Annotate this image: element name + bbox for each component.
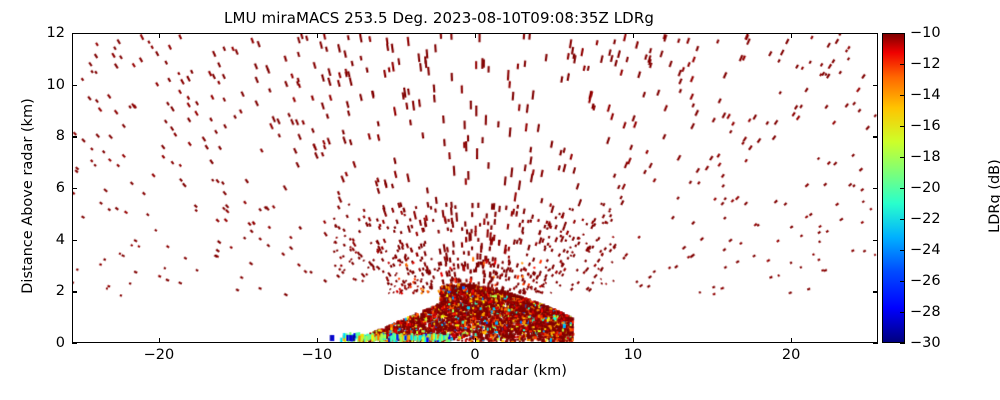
page-title: LMU miraMACS 253.5 Deg. 2023-08-10T09:08… (0, 9, 878, 27)
colorbar-tick-label: −14 (910, 87, 941, 103)
y-tick-label: 4 (56, 232, 65, 248)
x-tick-label: 20 (782, 347, 800, 363)
colorbar-tick-mark (900, 343, 905, 344)
colorbar-tick-label: −26 (910, 273, 941, 289)
y-tick-mark (873, 343, 878, 344)
y-tick-mark (72, 136, 77, 137)
x-tick-mark (317, 33, 318, 38)
plot-axes (72, 33, 878, 343)
y-tick-label: 8 (56, 128, 65, 144)
colorbar-tick-label: −12 (910, 56, 941, 72)
colorbar-tick-mark (900, 281, 905, 282)
colorbar-tick-label: −28 (910, 304, 941, 320)
colorbar-tick-label: −16 (910, 118, 941, 134)
x-tick-label: 10 (624, 347, 642, 363)
colorbar-tick-mark (900, 95, 905, 96)
y-tick-mark (72, 33, 77, 34)
colorbar-tick-mark (900, 157, 905, 158)
y-tick-mark (873, 240, 878, 241)
x-tick-mark (633, 338, 634, 343)
colorbar-tick-mark (900, 64, 905, 65)
y-axis-title: Distance Above radar (km) (20, 76, 36, 316)
colorbar-tick-mark (900, 312, 905, 313)
y-tick-mark (72, 85, 77, 86)
colorbar-tick-mark (900, 250, 905, 251)
x-tick-mark (791, 33, 792, 38)
y-tick-mark (72, 291, 77, 292)
x-tick-label: −20 (144, 347, 175, 363)
colorbar-tick-label: −10 (910, 25, 941, 41)
x-tick-mark (159, 338, 160, 343)
x-axis-title: Distance from radar (km) (72, 363, 878, 379)
y-tick-mark (873, 85, 878, 86)
y-tick-label: 2 (56, 283, 65, 299)
x-tick-mark (633, 33, 634, 38)
y-tick-label: 0 (56, 335, 65, 351)
y-tick-mark (873, 33, 878, 34)
y-tick-mark (72, 343, 77, 344)
radar-rhi-figure: LMU miraMACS 253.5 Deg. 2023-08-10T09:08… (0, 0, 1000, 400)
y-tick-mark (873, 188, 878, 189)
y-tick-mark (72, 188, 77, 189)
y-tick-label: 12 (47, 25, 65, 41)
colorbar-title: LDRg (dB) (987, 101, 1000, 291)
colorbar-tick-mark (900, 33, 905, 34)
colorbar-tick-mark (900, 219, 905, 220)
colorbar-tick-label: −24 (910, 242, 941, 258)
colorbar-tick-label: −18 (910, 149, 941, 165)
y-tick-label: 10 (47, 77, 65, 93)
y-tick-mark (873, 136, 878, 137)
colorbar-tick-label: −20 (910, 180, 941, 196)
colorbar-tick-label: −30 (910, 335, 941, 351)
y-tick-mark (873, 291, 878, 292)
x-tick-mark (317, 338, 318, 343)
colorbar-tick-mark (900, 188, 905, 189)
x-tick-mark (791, 338, 792, 343)
x-tick-label: 0 (470, 347, 479, 363)
scatter-data-canvas (73, 34, 877, 342)
x-tick-mark (475, 338, 476, 343)
x-tick-mark (159, 33, 160, 38)
y-tick-label: 6 (56, 180, 65, 196)
x-tick-label: −10 (302, 347, 333, 363)
y-tick-mark (72, 240, 77, 241)
colorbar-tick-mark (900, 126, 905, 127)
x-tick-mark (475, 33, 476, 38)
colorbar-tick-label: −22 (910, 211, 941, 227)
